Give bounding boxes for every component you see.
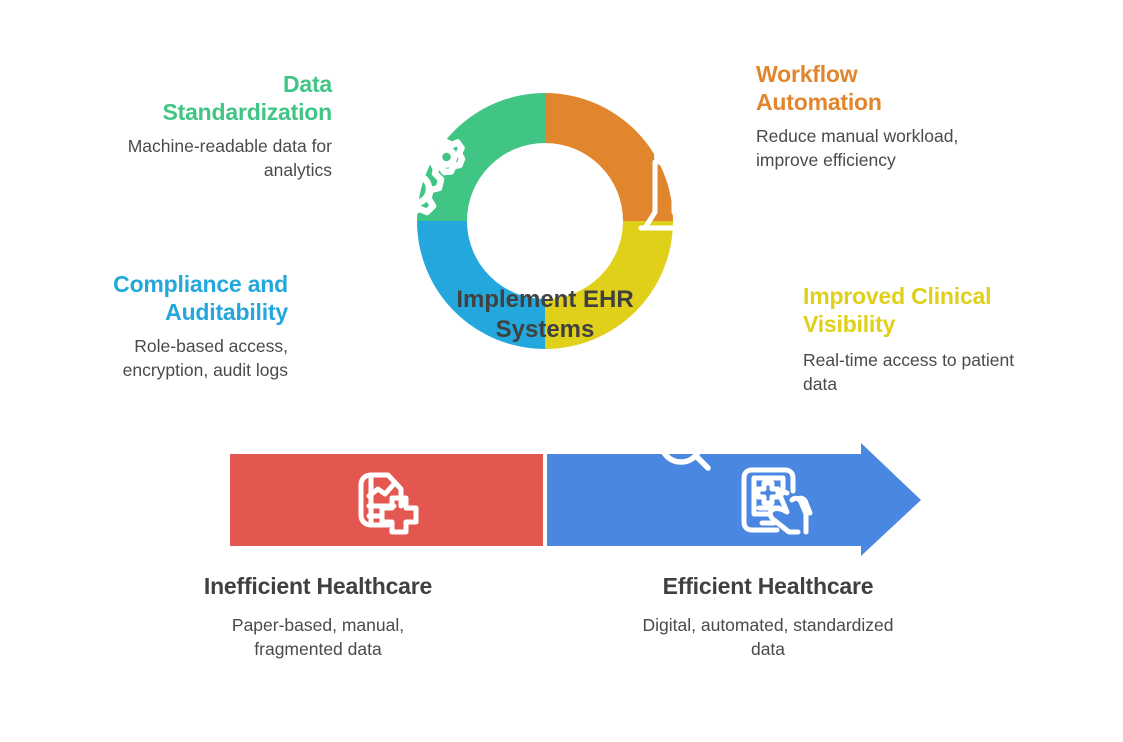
arrow-title-inefficient-healthcare: Inefficient Healthcare (192, 572, 444, 600)
segment-desc-workflow-automation: Reduce manual workload, improve efficien… (756, 125, 976, 172)
ring-arrow-divider (543, 454, 547, 546)
segment-desc-compliance-and-auditability: Role-based access, encryption, audit log… (100, 335, 288, 382)
label-improved-clinical-visibility: Improved Clinical Visibility Real-time a… (803, 282, 1018, 396)
arrow-title-efficient-healthcare: Efficient Healthcare (642, 572, 894, 600)
donut-center-label: Implement EHR Systems (425, 285, 665, 345)
label-inefficient-healthcare: Inefficient Healthcare Paper-based, manu… (192, 572, 444, 661)
segment-desc-improved-clinical-visibility: Real-time access to patient data (803, 349, 1018, 396)
arrow-desc-efficient-healthcare: Digital, automated, standardized data (642, 614, 894, 661)
segment-desc-data-standardization: Machine-readable data for analytics (120, 135, 332, 182)
arrow-right-blue-shape (545, 443, 921, 556)
label-workflow-automation: Workflow Automation Reduce manual worklo… (756, 60, 976, 172)
label-data-standardization: Data Standardization Machine-readable da… (120, 70, 332, 182)
arrow-desc-inefficient-healthcare: Paper-based, manual, fragmented data (192, 614, 444, 661)
label-compliance-and-auditability: Compliance and Auditability Role-based a… (100, 270, 288, 382)
segment-title-workflow-automation: Workflow Automation (756, 60, 976, 116)
shield-check-icon (344, 350, 406, 427)
segment-title-improved-clinical-visibility: Improved Clinical Visibility (803, 282, 1018, 338)
arrow-left-red-bar (230, 454, 545, 546)
segment-title-data-standardization: Data Standardization (120, 70, 332, 126)
label-efficient-healthcare: Efficient Healthcare Digital, automated,… (642, 572, 894, 661)
segment-title-compliance-and-auditability: Compliance and Auditability (100, 270, 288, 326)
